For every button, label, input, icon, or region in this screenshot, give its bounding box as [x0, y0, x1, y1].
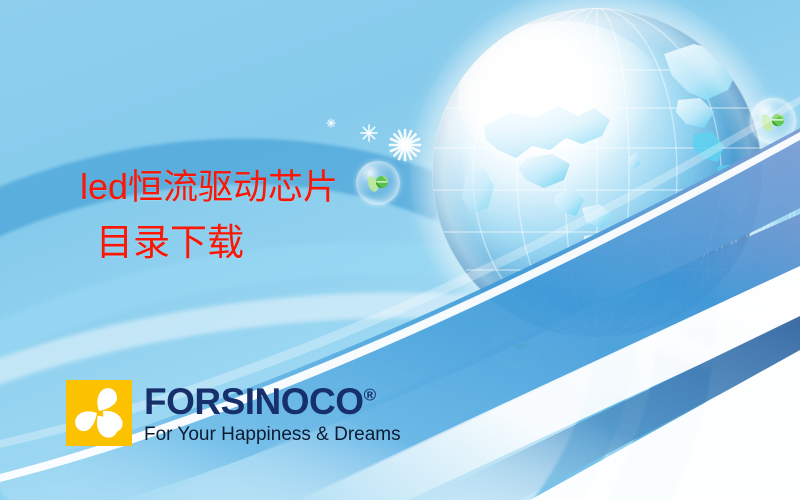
headline-line-2: 目录下载 [96, 219, 338, 268]
promo-banner: led恒流驱动芯片 目录下载 FORSINOCO® For Your Happi… [0, 0, 800, 500]
brand-word: FORSINOCO [144, 381, 364, 422]
headline-latin: led [80, 166, 128, 207]
brand-name: FORSINOCO® [144, 383, 401, 420]
company-logo: FORSINOCO® For Your Happiness & Dreams [66, 380, 401, 446]
registered-mark: ® [364, 385, 377, 404]
forsinoco-pinwheel-icon [66, 380, 132, 446]
logo-text-block: FORSINOCO® For Your Happiness & Dreams [144, 383, 401, 444]
headline-line-1: led恒流驱动芯片 [80, 163, 338, 211]
pinwheel-petals [66, 380, 132, 446]
headline: led恒流驱动芯片 目录下载 [80, 163, 338, 268]
headline-cjk: 恒流驱动芯片 [128, 168, 338, 208]
brand-tagline: For Your Happiness & Dreams [144, 425, 401, 444]
